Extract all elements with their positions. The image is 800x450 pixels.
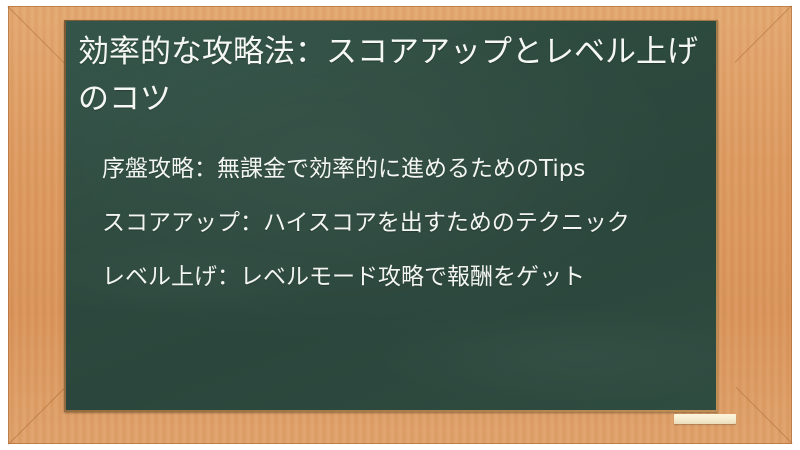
topic-list: 序盤攻略：無課金で効率的に進めるためのTips スコアアップ：ハイスコアを出すた… — [76, 151, 706, 295]
blackboard-slide: 効率的な攻略法：スコアアップとレベル上げのコツ 序盤攻略：無課金で効率的に進める… — [0, 0, 800, 450]
chalk-stick-icon — [674, 414, 736, 424]
frame-corner-joint-top-right — [735, 5, 792, 62]
frame-corner-joint-top-left — [7, 6, 64, 63]
frame-corner-joint-bottom-left — [8, 387, 65, 444]
slide-title: 効率的な攻略法：スコアアップとレベル上げのコツ — [76, 29, 706, 123]
chalkboard-content: 効率的な攻略法：スコアアップとレベル上げのコツ 序盤攻略：無課金で効率的に進める… — [66, 21, 716, 410]
chalkboard-surface: 効率的な攻略法：スコアアップとレベル上げのコツ 序盤攻略：無課金で効率的に進める… — [66, 21, 716, 410]
topic-list-item-3: レベル上げ：レベルモード攻略で報酬をゲット — [102, 259, 706, 295]
frame-corner-joint-bottom-right — [735, 387, 792, 444]
topic-list-item-2: スコアアップ：ハイスコアを出すためのテクニック — [102, 205, 706, 241]
topic-list-item-1: 序盤攻略：無課金で効率的に進めるためのTips — [102, 151, 706, 187]
